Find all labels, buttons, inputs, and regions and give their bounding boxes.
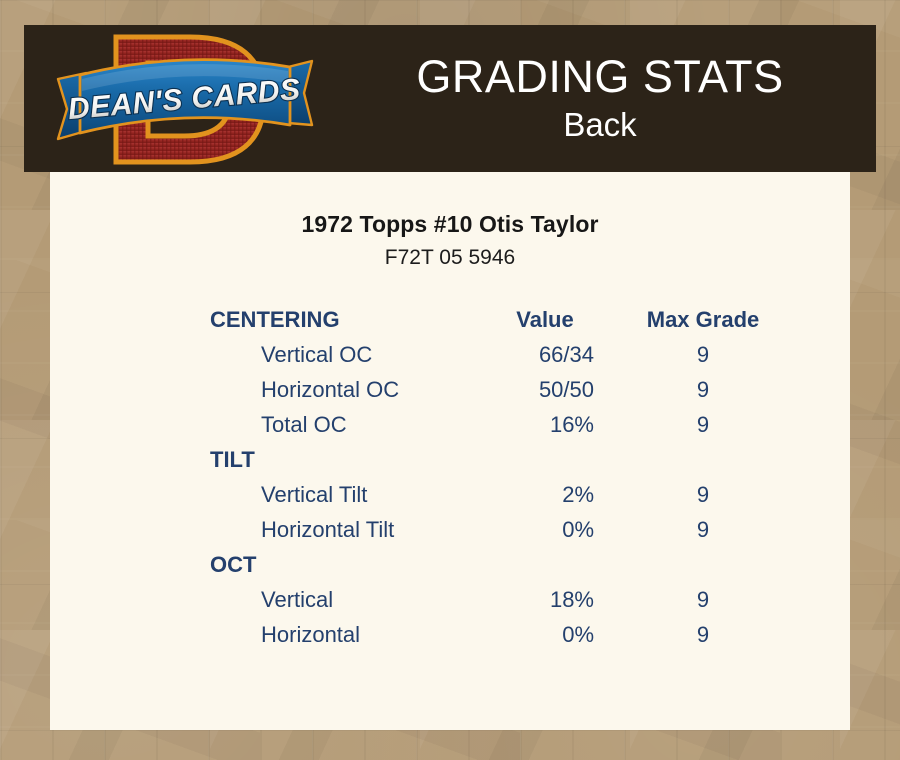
card-heading: 1972 Topps #10 Otis Taylor F72T 05 5946 <box>50 211 850 270</box>
stat-value: 2% <box>474 477 624 512</box>
stats-section-header: TILT <box>108 442 792 477</box>
content-panel: 1972 Topps #10 Otis Taylor F72T 05 5946 … <box>50 172 850 730</box>
stat-max-grade: 9 <box>624 582 792 617</box>
stat-label: Vertical <box>108 582 474 617</box>
header-bar: DEAN'S CARDS GRADING STATS Back <box>24 25 876 172</box>
table-row: Total OC16%9 <box>108 407 792 442</box>
column-header-value-spacer <box>474 442 624 477</box>
stat-value: 18% <box>474 582 624 617</box>
stat-max-grade: 9 <box>624 477 792 512</box>
table-row: Horizontal OC50/509 <box>108 372 792 407</box>
column-header-value-spacer <box>474 547 624 582</box>
column-header-value: Value <box>474 302 624 337</box>
stat-label: Horizontal OC <box>108 372 474 407</box>
stat-max-grade: 9 <box>624 617 792 652</box>
stat-label: Vertical OC <box>108 337 474 372</box>
section-title: CENTERING <box>108 302 474 337</box>
page-title: GRADING STATS <box>416 53 783 100</box>
stat-value: 50/50 <box>474 372 624 407</box>
table-row: Horizontal0%9 <box>108 617 792 652</box>
stat-max-grade: 9 <box>624 372 792 407</box>
column-header-grade-spacer <box>624 442 792 477</box>
stat-max-grade: 9 <box>624 512 792 547</box>
grading-stats-table: CENTERINGValueMax GradeVertical OC66/349… <box>108 302 792 652</box>
table-row: Vertical18%9 <box>108 582 792 617</box>
column-header-max-grade: Max Grade <box>624 302 792 337</box>
deans-cards-logo[interactable]: DEAN'S CARDS <box>50 27 318 172</box>
stat-value: 66/34 <box>474 337 624 372</box>
stat-max-grade: 9 <box>624 337 792 372</box>
table-row: Vertical Tilt2%9 <box>108 477 792 512</box>
table-row: Vertical OC66/349 <box>108 337 792 372</box>
stats-section-header: CENTERINGValueMax Grade <box>108 302 792 337</box>
stat-max-grade: 9 <box>624 407 792 442</box>
page-subtitle: Back <box>563 106 636 144</box>
stat-value: 0% <box>474 512 624 547</box>
header-titles: GRADING STATS Back <box>324 25 876 172</box>
stat-value: 16% <box>474 407 624 442</box>
card-serial-number: F72T 05 5946 <box>50 246 850 270</box>
section-title: TILT <box>108 442 474 477</box>
stat-label: Vertical Tilt <box>108 477 474 512</box>
stats-section-header: OCT <box>108 547 792 582</box>
section-title: OCT <box>108 547 474 582</box>
stat-label: Total OC <box>108 407 474 442</box>
card-title: 1972 Topps #10 Otis Taylor <box>50 211 850 238</box>
stat-label: Horizontal <box>108 617 474 652</box>
stat-label: Horizontal Tilt <box>108 512 474 547</box>
stat-value: 0% <box>474 617 624 652</box>
table-row: Horizontal Tilt0%9 <box>108 512 792 547</box>
column-header-grade-spacer <box>624 547 792 582</box>
